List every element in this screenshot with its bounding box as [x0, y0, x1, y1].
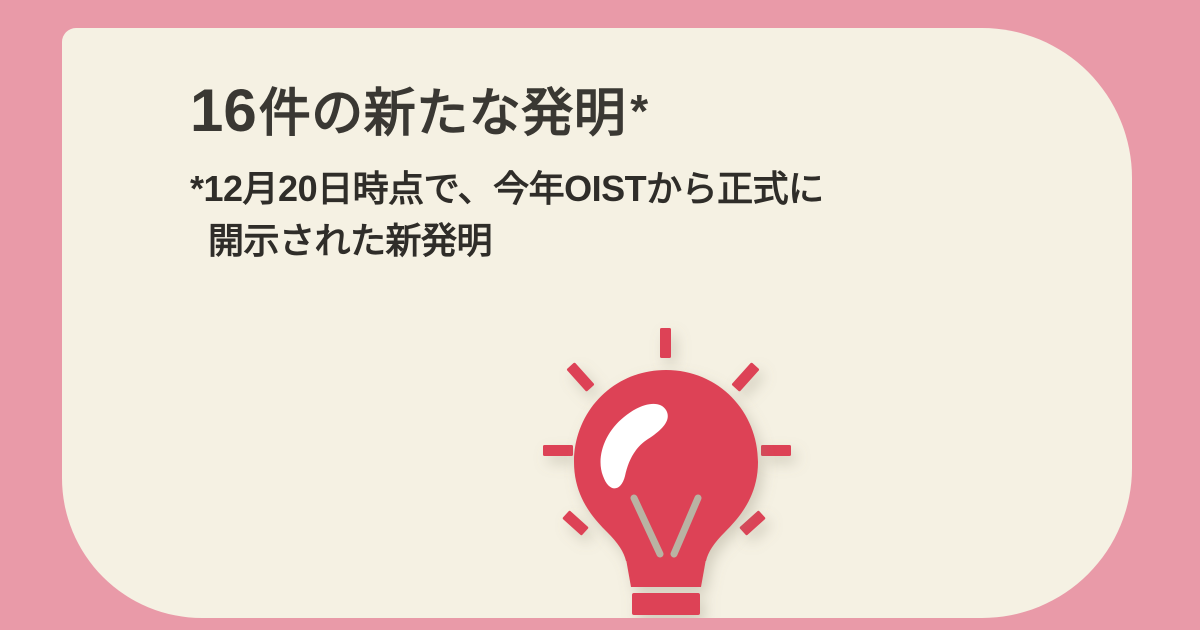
poster-canvas: 16件の新たな発明* *12月20日時点で、今年OISTから正式に 開示された新…: [0, 0, 1200, 630]
lightbulb-band: [632, 593, 700, 615]
headline-text: 件の新たな発明: [259, 85, 627, 143]
text-block: 16件の新たな発明* *12月20日時点で、今年OISTから正式に 開示された新…: [190, 76, 1070, 267]
subtitle-line-1: *12月20日時点で、今年OISTから正式に: [190, 168, 824, 209]
lightbulb-collar: [626, 559, 706, 587]
lightbulb-illustration: [532, 316, 832, 618]
footnote-marker: *: [630, 85, 648, 137]
subtitle: *12月20日時点で、今年OISTから正式に 開示された新発明: [190, 163, 990, 267]
content-card: 16件の新たな発明* *12月20日時点で、今年OISTから正式に 開示された新…: [62, 28, 1132, 618]
subtitle-line-2: 開示された新発明: [190, 215, 990, 267]
invention-count: 16: [190, 77, 257, 144]
page-title: 16件の新たな発明*: [190, 76, 1070, 145]
